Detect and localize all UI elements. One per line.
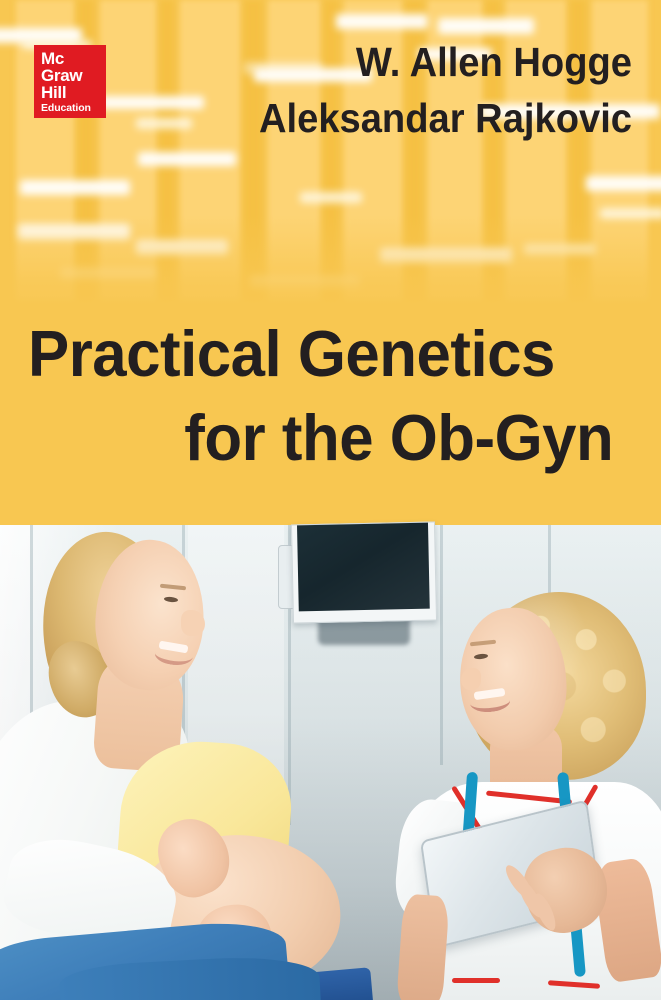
patient-nose bbox=[181, 610, 205, 636]
gel-band bbox=[586, 176, 661, 191]
logo-line-education: Education bbox=[41, 103, 106, 114]
book-cover: Mc Graw Hill Education W. Allen Hogge Al… bbox=[0, 0, 661, 1000]
wall-monitor bbox=[291, 522, 437, 624]
doctor-nose bbox=[461, 668, 481, 690]
gel-band bbox=[20, 180, 130, 195]
logo-line-hill: Hill bbox=[41, 84, 106, 101]
title-line-1: Practical Genetics bbox=[28, 312, 608, 396]
gel-band bbox=[138, 152, 236, 166]
wall-seam bbox=[440, 525, 443, 765]
title-line-2: for the Ob-Gyn bbox=[59, 396, 639, 480]
scrub-red-trim bbox=[452, 978, 500, 983]
logo-line-graw: Graw bbox=[41, 67, 106, 84]
doctor-arm-left bbox=[396, 894, 450, 1000]
cover-top-panel: Mc Graw Hill Education W. Allen Hogge Al… bbox=[0, 0, 661, 525]
author-name-secondary: Aleksandar Rajkovic bbox=[195, 90, 632, 146]
gel-band bbox=[438, 18, 534, 34]
logo-line-mc: Mc bbox=[41, 50, 106, 67]
gel-band bbox=[336, 14, 428, 29]
monitor-screen bbox=[297, 523, 430, 612]
gel-band bbox=[300, 192, 362, 203]
mcgraw-hill-logo: Mc Graw Hill Education bbox=[34, 45, 106, 118]
author-name-primary: W. Allen Hogge bbox=[195, 34, 632, 90]
book-title: Practical Genetics for the Ob-Gyn bbox=[28, 312, 638, 480]
author-names: W. Allen Hogge Aleksandar Rajkovic bbox=[162, 34, 632, 146]
